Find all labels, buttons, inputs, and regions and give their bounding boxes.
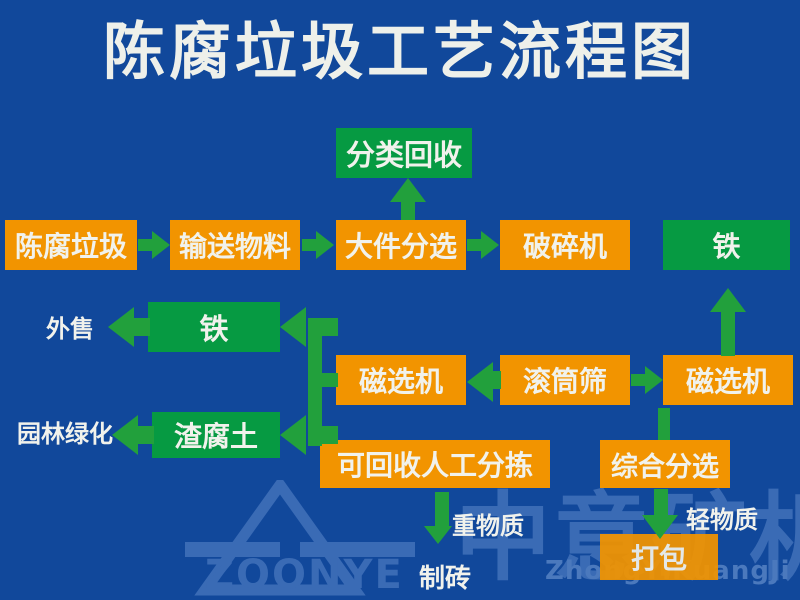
watermark-brand-en-left: ZOONYE <box>205 555 404 595</box>
flowchart-canvas: 中意矿机 ZOONYE ZhongYiKuangJi 陈腐垃圾工艺流程图 分类回… <box>0 0 800 600</box>
connector-magnetic-left-to-manual <box>308 430 322 446</box>
arrow-bulky-to-crusher <box>467 231 499 259</box>
node-magnetic-separator-left[interactable]: 磁选机 <box>336 355 466 405</box>
node-external-sale: 外售 <box>30 305 110 347</box>
arrow-comprehensive-to-baling <box>642 489 678 539</box>
arrow-stale-to-feed <box>138 231 170 259</box>
edge-label-light-material: 轻物质 <box>686 500 758 535</box>
node-trommel-screen[interactable]: 滚筒筛 <box>500 355 630 405</box>
node-iron-right[interactable]: 铁 <box>663 220 790 270</box>
arrow-trommel-to-magnetic-left <box>467 362 501 398</box>
connector-magnetic-left-stub <box>308 373 338 387</box>
node-bulky-sorting[interactable]: 大件分选 <box>336 220 466 270</box>
node-manual-sorting[interactable]: 可回收人工分拣 <box>320 440 550 488</box>
node-crusher[interactable]: 破碎机 <box>500 220 630 270</box>
arrow-trommel-to-magnetic-right <box>631 366 663 394</box>
node-sorting-recycle[interactable]: 分类回收 <box>336 128 472 178</box>
node-comprehensive-sorting[interactable]: 综合分选 <box>600 440 730 488</box>
page-title: 陈腐垃圾工艺流程图 <box>0 16 800 87</box>
edge-label-heavy-material: 重物质 <box>452 506 524 541</box>
node-brick-making: 制砖 <box>405 556 485 596</box>
connector-comprehensive-top <box>658 408 670 440</box>
node-baling[interactable]: 打包 <box>600 534 718 580</box>
arrow-humus-to-landscaping <box>112 415 154 455</box>
node-stale-waste[interactable]: 陈腐垃圾 <box>5 220 137 270</box>
arrow-feed-to-bulky <box>302 231 334 259</box>
node-feed-material[interactable]: 输送物料 <box>170 220 300 270</box>
node-landscaping: 园林绿化 <box>5 410 125 452</box>
arrow-bulky-to-sorting <box>390 178 426 220</box>
node-iron-left[interactable]: 铁 <box>148 302 280 352</box>
arrow-iron-left-to-sale <box>108 307 150 347</box>
node-magnetic-separator-right[interactable]: 磁选机 <box>663 355 793 405</box>
watermark-logo-icon <box>180 480 420 600</box>
arrow-magnetic-right-to-iron-right <box>710 288 746 356</box>
node-humus-soil[interactable]: 渣腐土 <box>152 412 280 458</box>
